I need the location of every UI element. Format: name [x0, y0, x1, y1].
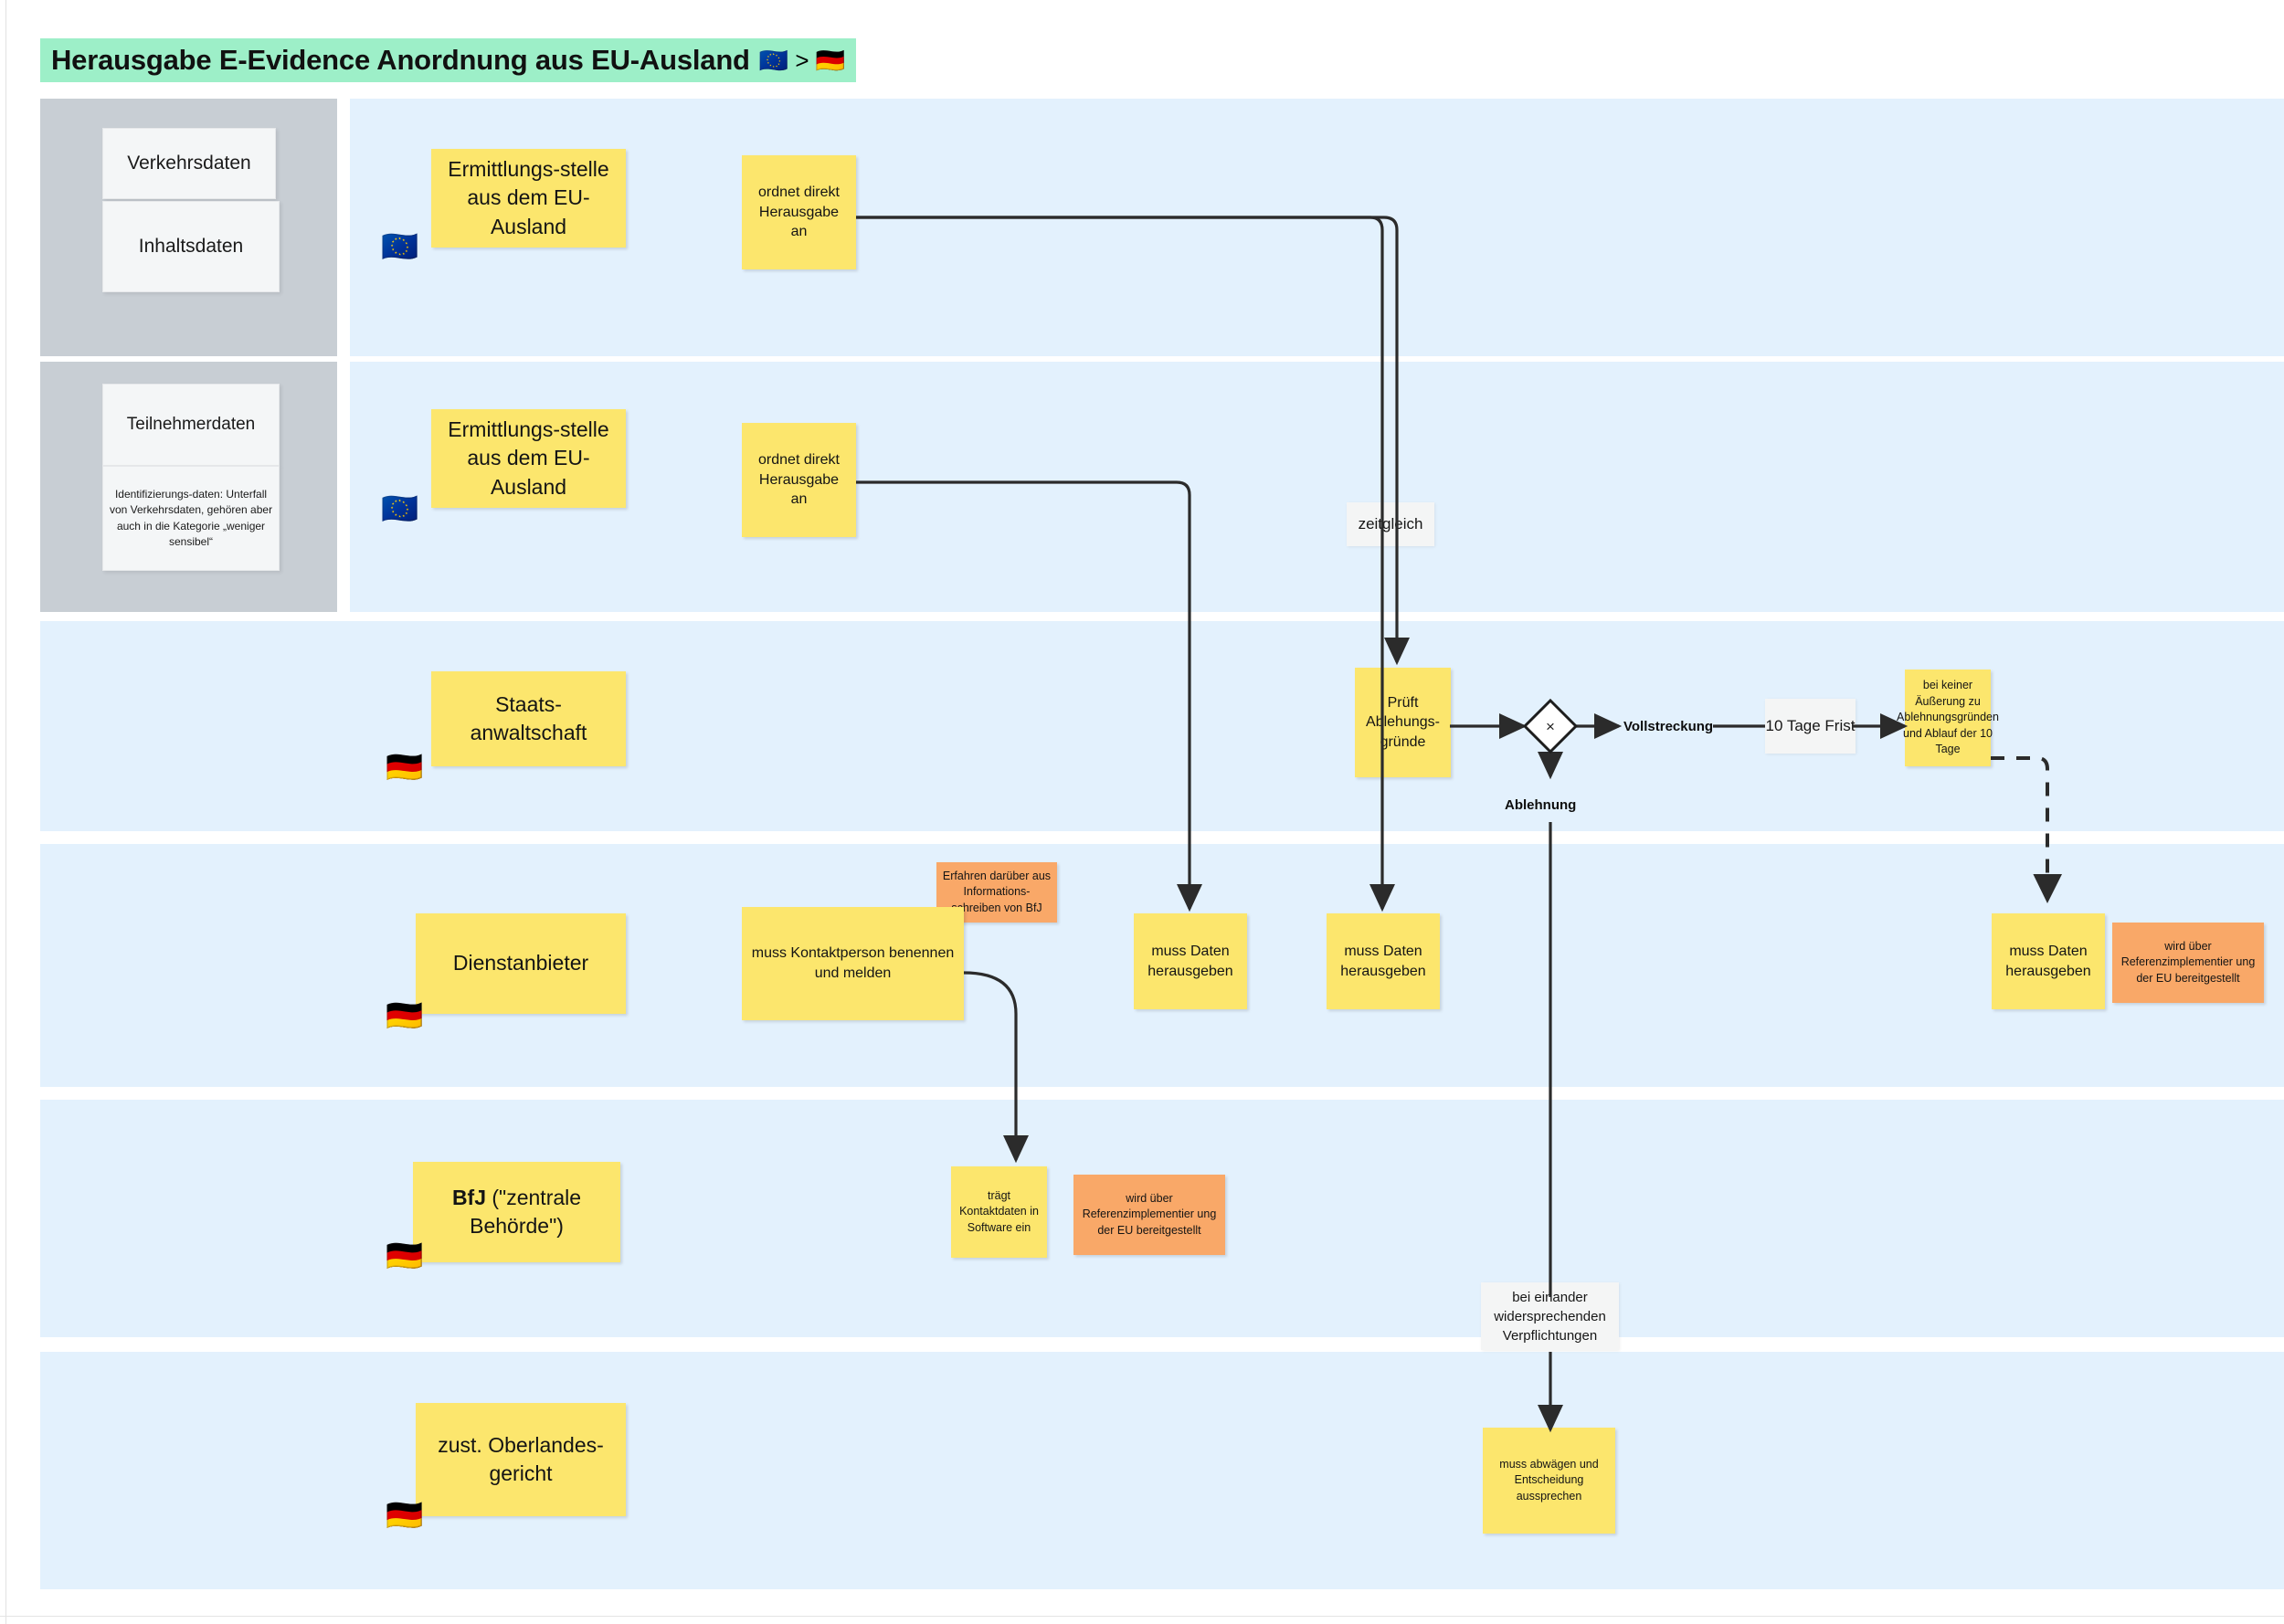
- eu-flag-icon: 🇪🇺: [381, 493, 418, 523]
- label-zeitgleich: zeitgleich: [1347, 502, 1434, 546]
- step-label: muss Daten herausgeben: [1999, 942, 2098, 981]
- page-left-rule: [5, 0, 6, 1624]
- de-flag-icon: 🇩🇪: [386, 1240, 423, 1271]
- data-card-teilnehmerdaten[interactable]: Teilnehmerdaten: [102, 384, 280, 466]
- step-label: muss Daten herausgeben: [1141, 942, 1240, 981]
- step-no-statement-after-10-days[interactable]: bei keiner Äußerung zu Ablehnungsgründen…: [1905, 670, 1991, 766]
- actor-label-bold-prefix: BfJ: [452, 1186, 486, 1209]
- step-order-direct-2[interactable]: ordnet direkt Herausgabe an: [742, 423, 856, 537]
- actor-note-staatsanwaltschaft[interactable]: Staats-anwaltschaft: [431, 671, 626, 766]
- actor-label: Staats-anwaltschaft: [440, 691, 617, 747]
- data-card-note-text: Identifizierungs-daten: Unterfall von Ve…: [103, 483, 279, 554]
- actor-note-bfj[interactable]: BfJ ("zentrale Behörde"): [413, 1162, 620, 1262]
- eu-flag-icon: 🇪🇺: [381, 231, 418, 261]
- step-pruefung-ablehnungsgruende[interactable]: Prüft Ablehungs-gründe: [1355, 668, 1451, 777]
- actor-label: Dienstanbieter: [453, 949, 588, 977]
- step-label: trägt Kontaktdaten in Software ein: [956, 1188, 1042, 1237]
- step-label: muss abwägen und Entscheidung ausspreche…: [1487, 1457, 1611, 1505]
- annotation-label: wird über Referenzimplementier ung der E…: [2117, 939, 2259, 987]
- step-must-release-data-2[interactable]: muss Daten herausgeben: [1327, 913, 1440, 1009]
- data-card-inhaltsdaten[interactable]: Inhaltsdaten: [102, 201, 280, 292]
- de-flag-icon: 🇩🇪: [386, 1500, 423, 1530]
- de-flag-icon: 🇩🇪: [386, 752, 423, 782]
- step-label: ordnet direkt Herausgabe an: [749, 183, 849, 242]
- step-label: muss Daten herausgeben: [1334, 942, 1433, 981]
- actor-label: zust. Oberlandes-gericht: [425, 1431, 617, 1488]
- label-text: Ablehnung: [1505, 797, 1576, 813]
- annotation-label: wird über Referenzimplementier ung der E…: [1078, 1191, 1221, 1239]
- actor-label: ("zentrale Behörde"): [470, 1186, 581, 1238]
- data-card-label: Verkehrsdaten: [127, 153, 250, 174]
- data-card-identifizierungsdaten-note: Identifizierungs-daten: Unterfall von Ve…: [102, 466, 280, 571]
- label-text: Vollstreckung: [1623, 719, 1713, 734]
- annotation-eu-reference-implementation-1: wird über Referenzimplementier ung der E…: [2112, 923, 2264, 1003]
- label-vollstreckung: Vollstreckung: [1623, 719, 1713, 734]
- lane-3-flow-cell: [696, 621, 2284, 831]
- step-label: Prüft Ablehungs-gründe: [1362, 693, 1443, 753]
- actor-label: Ermittlungs-stelle aus dem EU-Ausland: [440, 155, 617, 240]
- step-must-name-contact-person[interactable]: muss Kontaktperson benennen und melden: [742, 907, 964, 1020]
- page-title: Herausgabe E-Evidence Anordnung aus EU-A…: [40, 38, 856, 82]
- step-order-direct-1[interactable]: ordnet direkt Herausgabe an: [742, 155, 856, 269]
- title-flags-icon: 🇪🇺 > 🇩🇪: [759, 48, 845, 72]
- page-title-text: Herausgabe E-Evidence Anordnung aus EU-A…: [51, 44, 750, 77]
- label-ablehnung: Ablehnung: [1505, 797, 1576, 813]
- actor-label: Ermittlungs-stelle aus dem EU-Ausland: [440, 416, 617, 501]
- data-card-verkehrsdaten[interactable]: Verkehrsdaten: [102, 128, 276, 199]
- data-card-label: Teilnehmerdaten: [127, 415, 255, 435]
- step-must-release-data-3[interactable]: muss Daten herausgeben: [1992, 913, 2105, 1009]
- data-card-label: Inhaltsdaten: [139, 236, 243, 258]
- lane-2-flow-cell: [696, 362, 2284, 612]
- actor-note-dienstanbieter[interactable]: Dienstanbieter: [416, 913, 626, 1014]
- actor-note-ermittlungsstelle-1[interactable]: Ermittlungs-stelle aus dem EU-Ausland: [431, 149, 626, 248]
- label-text: 10 Tage Frist: [1766, 715, 1856, 737]
- label-conflicting-obligations: bei einander widersprechenden Verpflicht…: [1481, 1282, 1619, 1350]
- step-label: ordnet direkt Herausgabe an: [749, 450, 849, 510]
- actor-note-oberlandesgericht[interactable]: zust. Oberlandes-gericht: [416, 1403, 626, 1516]
- label-10-tage-frist: 10 Tage Frist: [1765, 699, 1856, 754]
- step-must-weigh-and-decide[interactable]: muss abwägen und Entscheidung ausspreche…: [1483, 1428, 1615, 1534]
- actor-note-ermittlungsstelle-2[interactable]: Ermittlungs-stelle aus dem EU-Ausland: [431, 409, 626, 508]
- actor-label-wrapper: BfJ ("zentrale Behörde"): [422, 1184, 611, 1240]
- step-label: bei keiner Äußerung zu Ablehnungsgründen…: [1897, 678, 1999, 758]
- de-flag-icon: 🇩🇪: [386, 1000, 423, 1030]
- step-must-release-data-1[interactable]: muss Daten herausgeben: [1134, 913, 1247, 1009]
- page-bottom-rule: [0, 1616, 2284, 1617]
- step-enters-contact-data-in-software[interactable]: trägt Kontaktdaten in Software ein: [951, 1166, 1047, 1258]
- diagram-canvas: Herausgabe E-Evidence Anordnung aus EU-A…: [0, 0, 2284, 1624]
- label-text: zeitgleich: [1359, 513, 1423, 535]
- annotation-eu-reference-implementation-2: wird über Referenzimplementier ung der E…: [1073, 1175, 1225, 1255]
- step-label: muss Kontaktperson benennen und melden: [749, 944, 957, 983]
- lane-1-flow-cell: [696, 99, 2284, 356]
- label-text: bei einander widersprechenden Verpflicht…: [1481, 1288, 1619, 1345]
